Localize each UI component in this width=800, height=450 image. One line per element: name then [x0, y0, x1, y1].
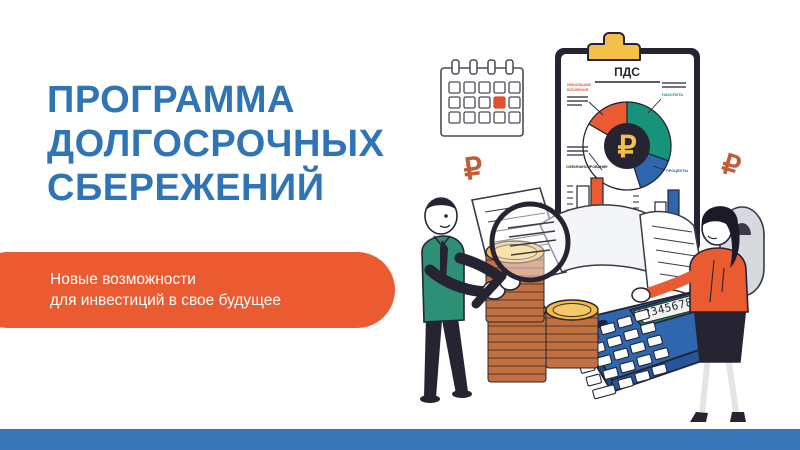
coin-stack-right [546, 300, 598, 368]
calendar-icon [441, 60, 523, 136]
svg-text:₽: ₽ [718, 148, 744, 183]
donut-chart: ₽ [583, 102, 671, 190]
subtitle-pill: Новые возможности для инвестиций в свое … [0, 252, 395, 328]
headline-line-3: СБЕРЕЖЕНИЙ [47, 166, 447, 210]
subtitle-line-1: Новые возможности [50, 269, 281, 290]
ruble-symbol-right: ₽ [718, 148, 744, 183]
svg-text:ПРОЦЕНТЫ: ПРОЦЕНТЫ [666, 169, 689, 173]
subtitle-text: Новые возможности для инвестиций в свое … [50, 269, 281, 311]
svg-text:НАКОПИТЬ: НАКОПИТЬ [662, 93, 684, 97]
page-title: ПРОГРАММА ДОЛГОСРОЧНЫХ СБЕРЕЖЕНИЙ [47, 78, 447, 210]
svg-text:₽: ₽ [461, 152, 485, 187]
subtitle-line-2: для инвестиций в свое будущее [50, 290, 281, 311]
svg-text:НЕБОЛЬШИЕ: НЕБОЛЬШИЕ [567, 83, 592, 87]
ruble-symbol-left: ₽ [461, 152, 485, 187]
svg-text:ВЛОЖЕНИЯ: ВЛОЖЕНИЯ [567, 88, 589, 92]
headline-line-1: ПРОГРАММА [47, 78, 447, 122]
clipboard-title: ПДС [614, 65, 640, 79]
banner-root: ПРОГРАММА ДОЛГОСРОЧНЫХ СБЕРЕЖЕНИЙ Новые … [0, 0, 800, 450]
hero-illustration: ₽ ₽ ПДС [390, 20, 800, 430]
svg-text:СОФИНАНСИРОВАНИЕ: СОФИНАНСИРОВАНИЕ [566, 165, 608, 169]
headline-line-2: ДОЛГОСРОЧНЫХ [47, 122, 447, 166]
footer-bar [0, 429, 800, 450]
ruble-center-symbol: ₽ [617, 131, 636, 164]
